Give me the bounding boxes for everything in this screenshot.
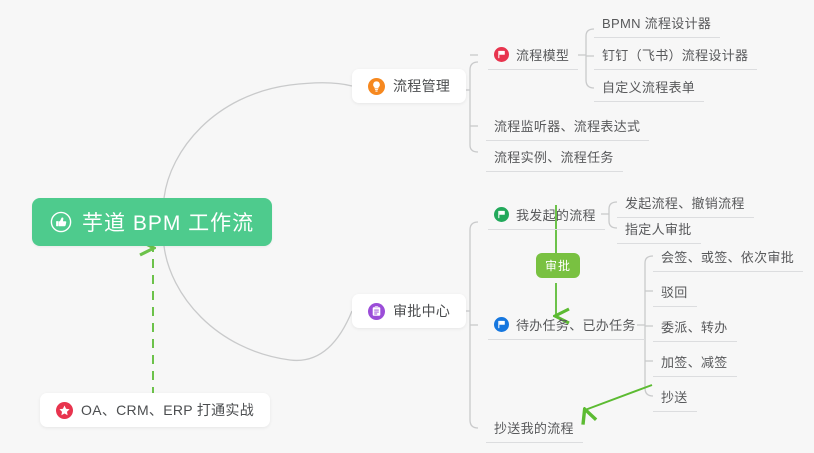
node-cc-to-me-flows[interactable]: 抄送我的流程	[486, 413, 583, 443]
node-my-initiated-flows[interactable]: 我发起的流程	[488, 200, 605, 230]
node-assignee-approval[interactable]: 指定人审批	[617, 214, 701, 244]
branch-approval-center[interactable]: 审批中心	[352, 294, 466, 328]
node-label: 流程模型	[516, 45, 569, 64]
node-reject[interactable]: 驳回	[653, 277, 697, 307]
node-label: 指定人审批	[625, 219, 692, 238]
clipboard-icon	[368, 303, 385, 320]
flag-icon	[494, 47, 509, 62]
node-label: 抄送我的流程	[494, 418, 574, 437]
lightbulb-icon	[368, 78, 385, 95]
node-label: 发起流程、撤销流程	[625, 193, 745, 212]
node-add-remove-sign[interactable]: 加签、减签	[653, 347, 737, 377]
annotation-tag-approve[interactable]: 审批	[536, 253, 580, 278]
node-dingtalk-feishu-designer[interactable]: 钉钉（飞书）流程设计器	[594, 40, 757, 70]
node-label: 驳回	[661, 282, 688, 301]
annotation-arrow-cc-to-cc-flows	[585, 385, 652, 410]
node-label: 钉钉（飞书）流程设计器	[602, 45, 748, 64]
edge-approval-bracket	[470, 222, 478, 428]
flag-icon	[494, 207, 509, 222]
root-label: 芋道 BPM 工作流	[82, 207, 254, 237]
node-countersign[interactable]: 会签、或签、依次审批	[653, 242, 803, 272]
branch-label: 审批中心	[393, 301, 450, 321]
annotation-label: OA、CRM、ERP 打通实战	[81, 400, 254, 420]
node-custom-process-form[interactable]: 自定义流程表单	[594, 72, 704, 102]
node-label: 自定义流程表单	[602, 77, 695, 96]
edge-root-to-process-mgmt	[164, 83, 352, 198]
node-label: 抄送	[661, 387, 688, 406]
edge-process-mgmt-bracket	[470, 62, 478, 152]
edge-root-to-approval-center	[164, 246, 352, 360]
node-delegate-transfer[interactable]: 委派、转办	[653, 312, 737, 342]
star-icon	[56, 402, 73, 419]
node-instance-task[interactable]: 流程实例、流程任务	[486, 142, 623, 172]
node-label: 待办任务、已办任务	[516, 315, 636, 334]
root-node[interactable]: 芋道 BPM 工作流	[32, 198, 272, 246]
thumbs-up-icon	[50, 211, 72, 233]
node-bpmn-designer[interactable]: BPMN 流程设计器	[594, 8, 720, 38]
node-label: 我发起的流程	[516, 205, 596, 224]
branch-process-management[interactable]: 流程管理	[352, 69, 466, 103]
node-label: 流程实例、流程任务	[494, 147, 614, 166]
flag-icon	[494, 317, 509, 332]
node-label: 流程监听器、流程表达式	[494, 116, 640, 135]
node-listener-expression[interactable]: 流程监听器、流程表达式	[486, 111, 649, 141]
edge-process-model-bracket	[586, 29, 594, 88]
node-todo-done-tasks[interactable]: 待办任务、已办任务	[488, 310, 645, 340]
node-label: BPMN 流程设计器	[602, 13, 711, 32]
node-label: 委派、转办	[661, 317, 728, 336]
node-label: 会签、或签、依次审批	[661, 247, 794, 266]
node-cc[interactable]: 抄送	[653, 382, 697, 412]
node-label: 加签、减签	[661, 352, 728, 371]
edge-todo-bracket	[645, 256, 653, 396]
annotation-label: 审批	[545, 257, 571, 274]
branch-label: 流程管理	[393, 76, 450, 96]
edge-my-flows-bracket	[609, 202, 617, 228]
mindmap-canvas: 芋道 BPM 工作流 流程管理 流程模型 BPMN 流程设计器 钉钉（飞书）流程	[0, 0, 814, 453]
node-process-model[interactable]: 流程模型	[488, 40, 578, 70]
annotation-card-oa-crm-erp[interactable]: OA、CRM、ERP 打通实战	[40, 393, 270, 427]
